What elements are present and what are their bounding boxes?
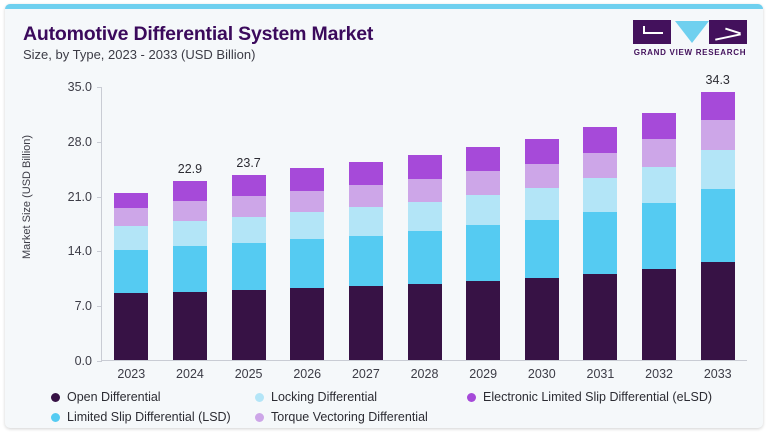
logo-left-tick-icon xyxy=(643,26,645,34)
bar-stack[interactable]: 22.9 xyxy=(173,181,207,360)
legend-label: Electronic Limited Slip Differential (eL… xyxy=(483,390,712,404)
bar-stack[interactable]: 23.7 xyxy=(232,175,266,361)
bar-segment[interactable] xyxy=(466,171,500,194)
logo-marks xyxy=(631,18,749,46)
bar-segment[interactable] xyxy=(173,201,207,221)
x-axis-tick-label: 2033 xyxy=(704,367,732,381)
chart-header: Automotive Differential System Market Si… xyxy=(5,9,763,73)
bar-segment[interactable] xyxy=(290,168,324,191)
bar-value-label: 22.9 xyxy=(178,162,202,176)
bar-segment[interactable] xyxy=(290,288,324,360)
bar-segment[interactable] xyxy=(114,250,148,294)
bar-value-label: 23.7 xyxy=(236,156,260,170)
legend-color-dot xyxy=(467,393,476,402)
bar-segment[interactable] xyxy=(173,292,207,360)
bar-segment[interactable] xyxy=(232,175,266,197)
legend-item[interactable]: Open Differential xyxy=(51,390,255,404)
grand-view-research-logo: GRAND VIEW RESEARCH xyxy=(631,18,749,62)
bar-segment[interactable] xyxy=(114,193,148,209)
legend-color-dot xyxy=(51,393,60,402)
y-axis-tick-label: 35.0 xyxy=(48,80,92,94)
x-axis-tick-label: 2024 xyxy=(176,367,204,381)
legend-label: Limited Slip Differential (LSD) xyxy=(67,410,231,424)
logo-left-block-icon xyxy=(633,20,671,44)
plot-area: Market Size (USD Billion) 0.07.014.021.0… xyxy=(5,73,763,378)
bar-segment[interactable] xyxy=(114,293,148,360)
chart-card: Automotive Differential System Market Si… xyxy=(5,4,763,428)
x-axis-tick-label: 2027 xyxy=(352,367,380,381)
bar-segment[interactable] xyxy=(232,217,266,243)
chart-subtitle: Size, by Type, 2023 - 2033 (USD Billion) xyxy=(23,47,255,62)
bar-segment[interactable] xyxy=(642,203,676,270)
x-axis-tick-label: 2030 xyxy=(528,367,556,381)
bar-segment[interactable] xyxy=(114,208,148,226)
bar-segment[interactable] xyxy=(525,188,559,220)
bar-segment[interactable] xyxy=(701,262,735,360)
y-axis-tick-label: 7.0 xyxy=(48,299,92,313)
legend-color-dot xyxy=(51,413,60,422)
chart-legend: Open DifferentialLocking DifferentialEle… xyxy=(51,387,751,427)
bar-stack[interactable] xyxy=(408,155,442,360)
y-axis-tick-label: 21.0 xyxy=(48,190,92,204)
x-axis-tick-label: 2031 xyxy=(587,367,615,381)
bar-segment[interactable] xyxy=(642,139,676,166)
bar-column[interactable]: 23.72025 xyxy=(219,87,278,360)
bar-column[interactable]: 2029 xyxy=(454,87,513,360)
bar-segment[interactable] xyxy=(173,246,207,292)
bar-segment[interactable] xyxy=(642,113,676,140)
bar-segment[interactable] xyxy=(701,150,735,189)
bar-value-label: 34.3 xyxy=(706,73,730,87)
y-axis-tick-label: 28.0 xyxy=(48,135,92,149)
bar-segment[interactable] xyxy=(408,155,442,179)
bar-segment[interactable] xyxy=(642,167,676,203)
bar-segment[interactable] xyxy=(466,281,500,360)
bar-segment[interactable] xyxy=(408,231,442,284)
bar-segment[interactable] xyxy=(349,236,383,287)
bar-segment[interactable] xyxy=(583,212,617,274)
bar-segment[interactable] xyxy=(583,178,617,212)
legend-item[interactable]: Locking Differential xyxy=(255,390,467,404)
bar-column[interactable]: 2028 xyxy=(395,87,454,360)
bar-segment[interactable] xyxy=(525,278,559,360)
bar-segment[interactable] xyxy=(583,153,617,179)
bar-segment[interactable] xyxy=(232,243,266,291)
bar-segment[interactable] xyxy=(466,225,500,281)
bar-segment[interactable] xyxy=(173,221,207,246)
x-axis-tick-label: 2023 xyxy=(117,367,145,381)
bar-stack[interactable] xyxy=(114,193,148,361)
logo-triangle-icon xyxy=(675,21,709,43)
bar-column[interactable]: 2030 xyxy=(512,87,571,360)
x-axis-tick-label: 2026 xyxy=(293,367,321,381)
bar-column[interactable]: 22.92024 xyxy=(161,87,220,360)
legend-item[interactable]: Limited Slip Differential (LSD) xyxy=(51,410,255,424)
page-title: Automotive Differential System Market xyxy=(23,23,373,46)
plot-canvas: 0.07.014.021.028.035.0 202322.9202423.72… xyxy=(101,87,747,361)
bar-segment[interactable] xyxy=(114,226,148,249)
legend-label: Torque Vectoring Differential xyxy=(271,410,428,424)
logo-right-stroke-one-icon xyxy=(715,33,741,40)
y-axis-tick-label: 14.0 xyxy=(48,244,92,258)
bar-segment[interactable] xyxy=(232,290,266,360)
legend-color-dot xyxy=(255,413,264,422)
bar-segment[interactable] xyxy=(583,127,617,153)
bar-segment[interactable] xyxy=(232,196,266,216)
bar-segment[interactable] xyxy=(349,162,383,185)
bar-column[interactable]: 2031 xyxy=(571,87,630,360)
bar-stack[interactable] xyxy=(349,162,383,360)
bar-segment[interactable] xyxy=(290,212,324,239)
bar-segment[interactable] xyxy=(701,92,735,121)
logo-right-block-icon xyxy=(709,20,747,44)
y-axis-tick-label: 0.0 xyxy=(48,354,92,368)
bar-stack[interactable] xyxy=(642,113,676,360)
legend-color-dot xyxy=(255,393,264,402)
bar-segment[interactable] xyxy=(466,147,500,171)
legend-item[interactable]: Electronic Limited Slip Differential (eL… xyxy=(467,390,751,404)
y-axis-tick-mark xyxy=(97,361,102,362)
bar-segment[interactable] xyxy=(466,195,500,226)
bar-column[interactable]: 2023 xyxy=(102,87,161,360)
bar-segment[interactable] xyxy=(408,179,442,202)
x-axis-tick-label: 2032 xyxy=(645,367,673,381)
bar-segment[interactable] xyxy=(349,207,383,235)
bar-stack[interactable]: 34.3 xyxy=(701,92,735,360)
legend-item[interactable]: Torque Vectoring Differential xyxy=(255,410,467,424)
bar-column[interactable]: 2026 xyxy=(278,87,337,360)
bar-segment[interactable] xyxy=(642,269,676,360)
bar-segment[interactable] xyxy=(408,284,442,360)
bar-segment[interactable] xyxy=(525,220,559,278)
bar-segment[interactable] xyxy=(701,189,735,262)
bar-column[interactable]: 34.32033 xyxy=(688,87,747,360)
y-axis-title: Market Size (USD Billion) xyxy=(21,117,33,277)
bar-stack[interactable] xyxy=(525,139,559,360)
bar-segment[interactable] xyxy=(290,191,324,212)
logo-wordmark: GRAND VIEW RESEARCH xyxy=(631,48,749,57)
bar-segment[interactable] xyxy=(173,181,207,201)
bar-segment[interactable] xyxy=(525,139,559,163)
bar-column[interactable]: 2027 xyxy=(337,87,396,360)
bar-column[interactable]: 2032 xyxy=(630,87,689,360)
legend-label: Locking Differential xyxy=(271,390,377,404)
bar-segment[interactable] xyxy=(525,164,559,188)
logo-left-bar-icon xyxy=(643,32,663,34)
bar-segment[interactable] xyxy=(349,286,383,360)
bar-stack[interactable] xyxy=(583,127,617,360)
bar-segment[interactable] xyxy=(349,185,383,207)
x-axis-tick-label: 2028 xyxy=(411,367,439,381)
bar-segment[interactable] xyxy=(290,239,324,288)
bar-segment[interactable] xyxy=(583,274,617,360)
x-axis-tick-label: 2029 xyxy=(469,367,497,381)
bar-segment[interactable] xyxy=(701,120,735,150)
legend-label: Open Differential xyxy=(67,390,161,404)
bar-segment[interactable] xyxy=(408,202,442,231)
x-axis-tick-label: 2025 xyxy=(235,367,263,381)
bar-stack[interactable] xyxy=(466,147,500,360)
bar-stack[interactable] xyxy=(290,168,324,360)
logo-right-stroke-two-icon xyxy=(725,28,741,35)
bar-group: 202322.9202423.7202520262027202820292030… xyxy=(102,87,747,360)
